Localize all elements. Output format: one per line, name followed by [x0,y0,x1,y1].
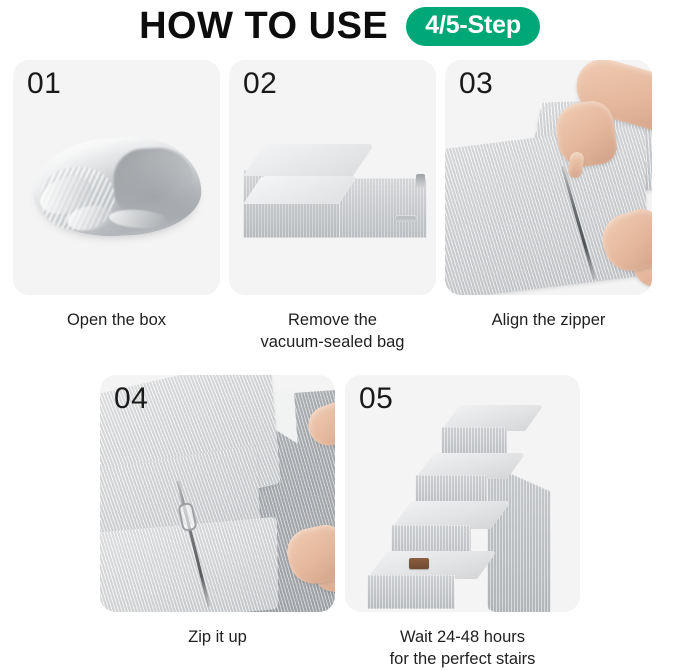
step-05-number: 05 [359,384,393,414]
step-card-04: 04 Zip it up [100,375,335,671]
step-04-caption: Zip it up [188,626,247,648]
step-02-number: 02 [243,69,277,99]
step-04-image: 04 [100,375,335,612]
step-02-caption: Remove the vacuum-sealed bag [260,309,404,354]
block-top-right [243,176,358,204]
step-05-image: 05 [345,375,580,612]
foam-block [243,144,427,242]
slab-texture [445,124,648,295]
block-texture [339,178,427,238]
step-count-badge: 4/5-Step [406,7,540,46]
step-card-01: 01 Open the box [13,60,220,354]
steps-row-top: 01 Open the box 02 [13,60,666,354]
step-01-image: 01 [13,60,220,295]
steps-row-bottom: 04 Zip it up 05 [100,375,580,671]
step-02-image: 02 [229,60,436,295]
page-header: HOW TO USE 4/5-Step [0,0,679,52]
stairs-texture [367,575,455,609]
stair-riser-1 [367,575,455,609]
block-top-left [243,144,375,176]
step-card-02: 02 Remove the vacuum-sealed bag [229,60,436,354]
block-handle [395,215,417,222]
step-03-number: 03 [459,69,493,99]
block-zipper-pull [416,174,425,188]
block-front-right [339,178,427,238]
page-title: HOW TO USE [139,7,388,45]
step-04-number: 04 [114,384,148,414]
brand-tag [409,558,429,569]
step-card-05: 05 Wait 24-48 hours for the perfect stai… [345,375,580,671]
step-03-caption: Align the zipper [492,309,606,331]
step-03-image: 03 [445,60,652,295]
step-01-caption: Open the box [67,309,166,331]
step-01-number: 01 [27,69,61,99]
stairs-side-panel [487,463,551,612]
step-05-caption: Wait 24-48 hours for the perfect stairs [390,626,536,671]
foam-slab-front [445,124,648,295]
stairs-texture [487,463,551,612]
pet-stairs [367,405,563,585]
step-card-03: 03 Align the zipper [445,60,652,354]
